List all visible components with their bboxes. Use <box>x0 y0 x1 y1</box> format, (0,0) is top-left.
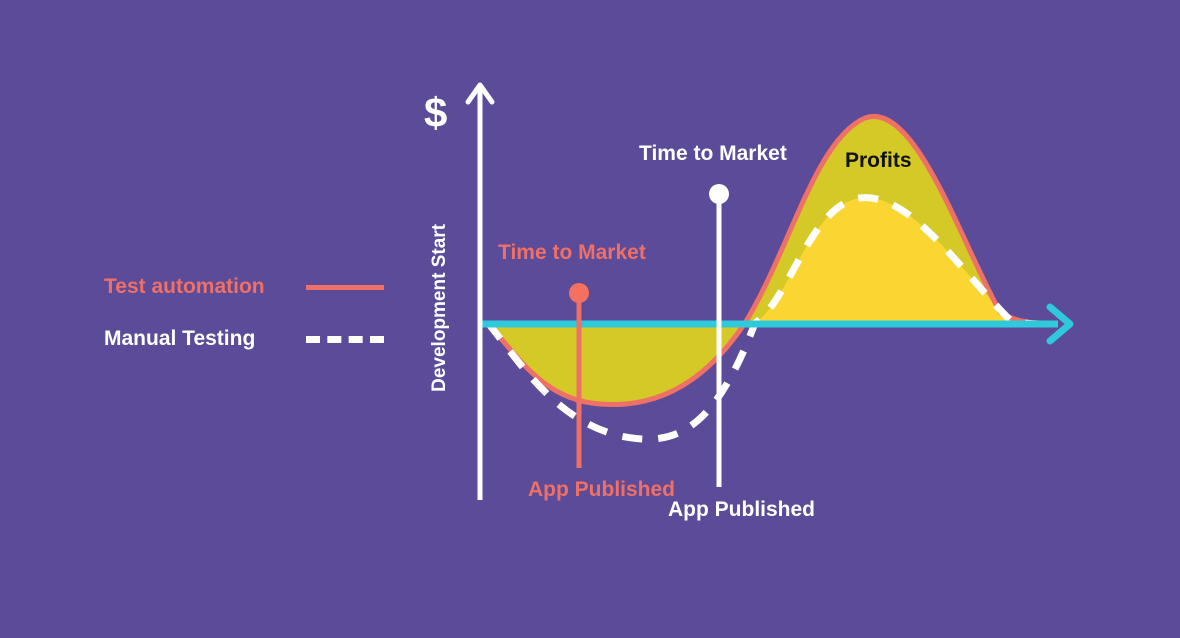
legend-label-test-automation: Test automation <box>104 275 265 299</box>
annotation-app-published-automation: App Published <box>528 478 628 503</box>
legend-swatch-solid-line-icon <box>306 285 384 290</box>
y-axis-currency-symbol: $ <box>424 88 447 138</box>
annotation-time-to-market-automation: Time to Market <box>498 241 646 266</box>
pin-head-icon <box>709 184 729 204</box>
annotation-app-published-manual: App Published <box>668 498 768 523</box>
pin-head-icon <box>569 283 589 303</box>
legend-item-test-automation[interactable]: Test automation <box>104 270 384 304</box>
annotation-time-to-market-manual: Time to Market <box>639 142 787 167</box>
annotation-profits: Profits <box>845 149 912 174</box>
legend: Test automation Manual Testing <box>104 270 384 374</box>
legend-item-manual-testing[interactable]: Manual Testing <box>104 322 384 356</box>
legend-swatch-dashed-line-icon <box>306 336 384 343</box>
infographic-canvas: Test automation Manual Testing $ Develop… <box>0 0 1180 638</box>
legend-label-manual-testing: Manual Testing <box>104 327 255 351</box>
y-axis-label: Development Start <box>429 224 451 392</box>
